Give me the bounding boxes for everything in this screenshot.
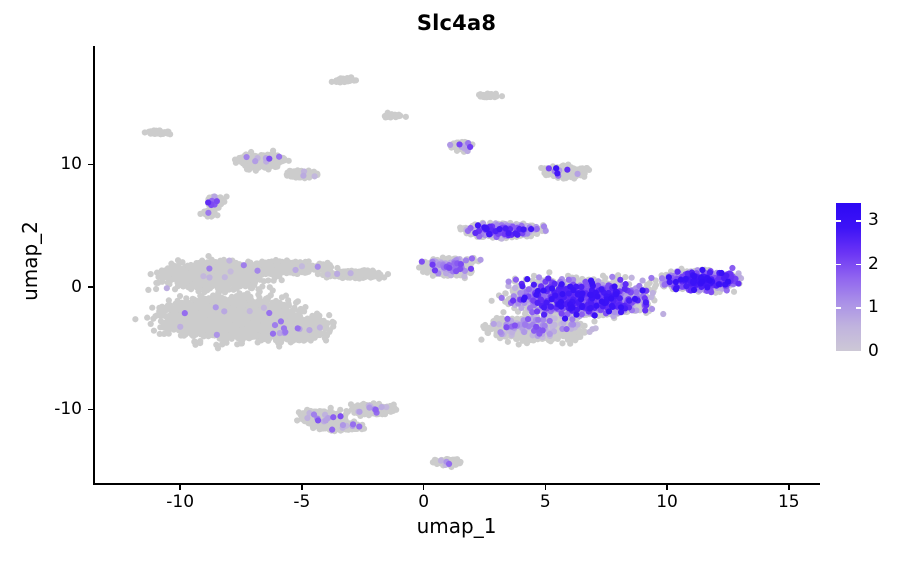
x-tick-mark	[545, 485, 547, 490]
y-tick-mark	[88, 409, 93, 411]
y-axis-spine	[93, 46, 95, 485]
x-tick-label: 10	[637, 491, 697, 513]
colorbar-tick-mark	[856, 220, 861, 222]
x-tick-mark	[666, 485, 668, 490]
colorbar-tick-mark	[856, 307, 861, 309]
plot-axes-area	[95, 48, 818, 483]
x-tick-label: 0	[394, 491, 454, 513]
colorbar-tick-label: 2	[868, 254, 879, 274]
page-title: Slc4a8	[95, 10, 818, 36]
x-tick-mark	[788, 485, 790, 490]
colorbar-tick-label: 1	[868, 297, 879, 317]
x-tick-mark	[301, 485, 303, 490]
x-axis-spine	[93, 483, 820, 485]
y-tick-mark	[88, 286, 93, 288]
x-tick-mark	[423, 485, 425, 490]
x-tick-label: -5	[272, 491, 332, 513]
colorbar: 0123	[836, 203, 906, 353]
colorbar-tick-mark	[856, 264, 861, 266]
y-axis-label: umap_2	[17, 136, 43, 386]
y-tick-mark	[88, 164, 93, 166]
colorbar-gradient-bar	[836, 203, 861, 351]
colorbar-tick-mark	[836, 307, 841, 309]
colorbar-tick-label: 0	[868, 341, 879, 361]
x-axis-label: umap_1	[95, 513, 818, 539]
colorbar-tick-label: 3	[868, 210, 879, 230]
y-tick-label: -10	[18, 398, 82, 420]
colorbar-tick-mark	[836, 264, 841, 266]
colorbar-tick-mark	[836, 220, 841, 222]
x-tick-label: -10	[150, 491, 210, 513]
x-tick-mark	[179, 485, 181, 490]
x-tick-label: 15	[759, 491, 819, 513]
x-tick-label: 5	[515, 491, 575, 513]
scatter-plot-canvas	[95, 48, 818, 483]
umap-feature-plot-figure: Slc4a8 -10-5051015 100-10 umap_1 umap_2 …	[0, 0, 911, 562]
